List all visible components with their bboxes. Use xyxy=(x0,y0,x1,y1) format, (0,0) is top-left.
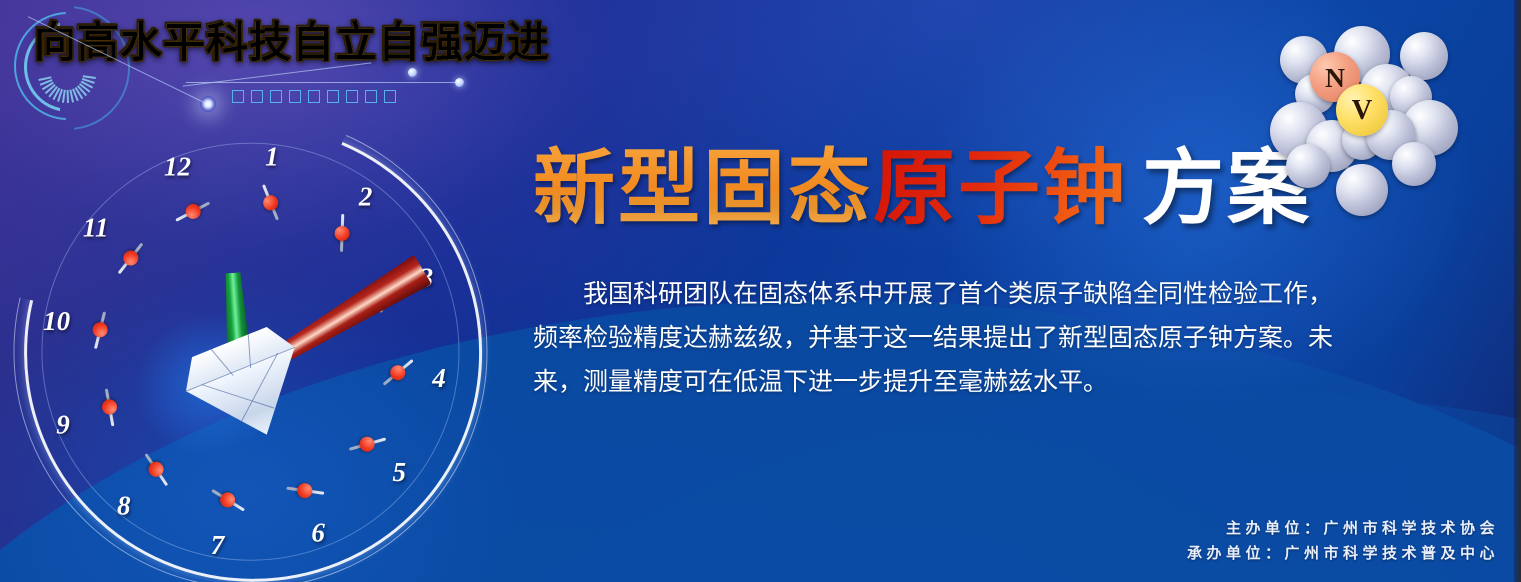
clock-number-2: 2 xyxy=(359,181,373,212)
banner-root: 向高水平科技自立自强迈进 123456789101112 新型固态原子钟方案 xyxy=(0,0,1521,582)
body-paragraph: 我国科研团队在固态体系中开展了首个类原子缺陷全同性检验工作，频率检验精度达赫兹级… xyxy=(533,272,1333,404)
credit-host: 承办单位：广州市科学技术普及中心 xyxy=(1187,541,1499,566)
clock-number-6: 6 xyxy=(311,518,325,549)
atom-label: V xyxy=(1336,97,1388,126)
atom-vacancy: V xyxy=(1336,84,1388,136)
clock-number-7: 7 xyxy=(211,530,225,561)
credits-block: 主办单位：广州市科学技术协会 承办单位：广州市科学技术普及中心 xyxy=(1187,516,1499,566)
clock-number-1: 1 xyxy=(265,142,279,173)
clock-number-9: 9 xyxy=(56,409,70,440)
nv-center-molecule: NV xyxy=(1262,2,1512,212)
title-part-red: 原子钟 xyxy=(873,141,1128,236)
clock-spin-marker xyxy=(294,479,317,502)
glow-star-icon xyxy=(200,96,216,112)
main-title: 新型固态原子钟方案 xyxy=(533,148,1312,230)
atom-carbon xyxy=(1286,144,1330,188)
clock-number-11: 11 xyxy=(83,213,109,244)
clock-spin-marker xyxy=(331,223,352,244)
ring-ticks-icon xyxy=(16,60,116,120)
clock-spin-marker xyxy=(99,396,122,419)
clock-number-5: 5 xyxy=(392,457,406,488)
clock-number-12: 12 xyxy=(164,152,191,183)
clock-number-8: 8 xyxy=(117,490,131,521)
clock-number-10: 10 xyxy=(43,306,70,337)
title-part-orange: 新型固态 xyxy=(533,141,873,236)
atom-carbon xyxy=(1336,164,1388,216)
right-edge-strip xyxy=(1514,0,1521,582)
credit-organizer: 主办单位：广州市科学技术协会 xyxy=(1187,516,1499,541)
clock-number-4: 4 xyxy=(432,363,445,394)
atom-carbon xyxy=(1392,142,1436,186)
